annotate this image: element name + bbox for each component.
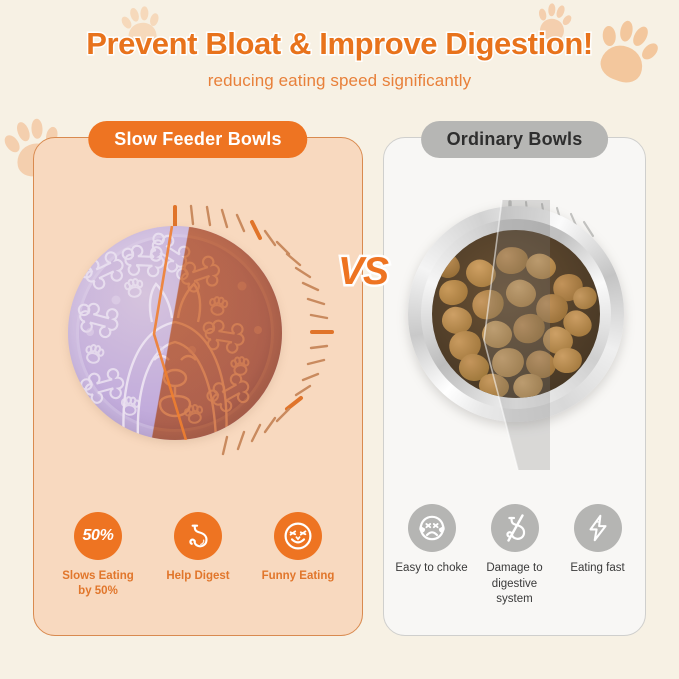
percent-50-badge-icon: 50% xyxy=(74,512,122,560)
lightning-bolt-icon-wrap xyxy=(574,504,622,552)
benefit-help-digest[interactable]: Help Digest xyxy=(148,512,248,599)
ordinary-bowl-image xyxy=(398,200,634,470)
choking-sad-face-icon xyxy=(416,512,448,544)
stomach-crossed-out-icon xyxy=(499,512,531,544)
benefit-help-digest-label: Help Digest xyxy=(166,569,229,584)
vs-badge: VS xyxy=(338,250,388,294)
slow-feeder-card: Slow Feeder Bowls xyxy=(33,137,363,636)
drawback-label-line1: Easy to choke xyxy=(395,561,467,576)
benefit-slows-eating[interactable]: 50% Slows Eating by 50% xyxy=(48,512,148,599)
steel-bowl xyxy=(408,206,624,422)
benefit-label-line1: Help Digest xyxy=(166,569,229,584)
slow-feeder-bowl-image xyxy=(46,193,352,493)
page-title: Prevent Bloat & Improve Digestion! xyxy=(0,26,679,62)
drawback-easy-to-choke[interactable]: Easy to choke xyxy=(390,504,473,607)
drawback-damage-digestive[interactable]: Damage to digestive system xyxy=(473,504,556,607)
page-subtitle: reducing eating speed significantly xyxy=(0,71,679,91)
choking-sad-face-icon-wrap xyxy=(408,504,456,552)
benefit-label-line2: by 50% xyxy=(62,584,134,599)
drawback-label-line1: Eating fast xyxy=(570,561,624,576)
percent-50-text: 50% xyxy=(82,527,113,545)
slow-feeder-benefits: 50% Slows Eating by 50% Hel xyxy=(34,512,362,599)
happy-face-icon-wrap xyxy=(274,512,322,560)
stomach-icon-wrap xyxy=(174,512,222,560)
happy-face-icon xyxy=(282,520,314,552)
benefit-slows-eating-label: Slows Eating by 50% xyxy=(62,569,134,599)
drawback-label-line2: digestive system xyxy=(473,577,556,607)
ordinary-bowl-title-pill: Ordinary Bowls xyxy=(421,121,609,158)
kibble-pile xyxy=(432,230,600,398)
drawback-damage-digestive-label: Damage to digestive system xyxy=(473,561,556,607)
drawback-eating-fast[interactable]: Eating fast xyxy=(556,504,639,607)
benefit-funny-eating[interactable]: Funny Eating xyxy=(248,512,348,599)
stomach-crossed-out-icon-wrap xyxy=(491,504,539,552)
slow-feeder-title-pill: Slow Feeder Bowls xyxy=(88,121,307,158)
overlay-divider-line xyxy=(68,226,282,440)
benefit-label-line1: Funny Eating xyxy=(262,569,335,584)
ordinary-bowl-drawbacks: Easy to choke Damage to digestive system xyxy=(384,504,645,607)
benefit-funny-eating-label: Funny Eating xyxy=(262,569,335,584)
stomach-icon xyxy=(183,521,213,551)
comparison-area: Slow Feeder Bowls xyxy=(0,137,679,637)
drawback-eating-fast-label: Eating fast xyxy=(570,561,624,576)
ordinary-bowl-card: Ordinary Bowls xyxy=(383,137,646,636)
header: Prevent Bloat & Improve Digestion! reduc… xyxy=(0,26,679,91)
benefit-label-line1: Slows Eating xyxy=(62,569,134,584)
drawback-easy-to-choke-label: Easy to choke xyxy=(395,561,467,576)
lightning-bolt-icon xyxy=(583,513,613,543)
drawback-label-line1: Damage to xyxy=(473,561,556,576)
